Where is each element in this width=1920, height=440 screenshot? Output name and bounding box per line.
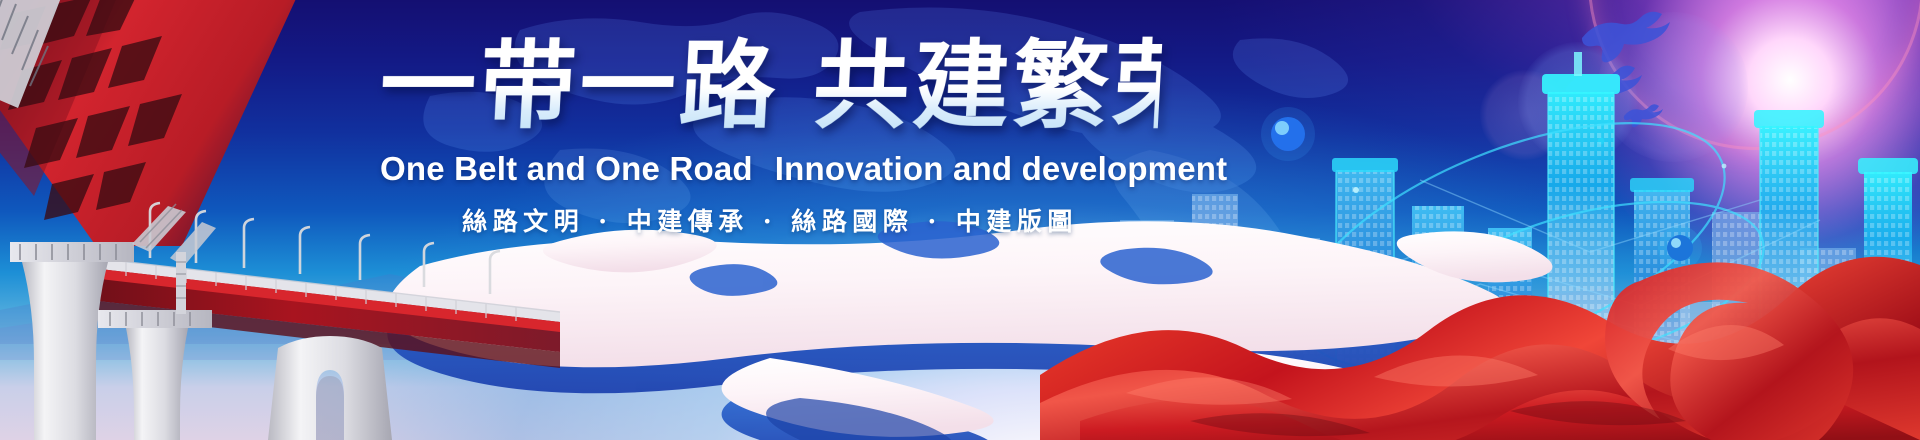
- distant-mountain-ridge-far: [0, 224, 1920, 344]
- lens-flare-bokeh-small-icon: [1480, 70, 1570, 160]
- page-title: 一带一路共建繁荣: [377, 34, 1162, 138]
- title-cn-part-2: 共建繁荣: [810, 29, 1215, 142]
- 3d-world-map: [300, 210, 1640, 440]
- slogan-chinese: 絲路文明 · 中建傳承 · 絲路國際 · 中建版圖: [380, 202, 1160, 238]
- title-cn-part-1: 一带一路: [377, 29, 782, 142]
- flying-doves-icon: [1560, 4, 1810, 154]
- banner-alt-text: 一带一路 共建繁荣 宣传横幅: [0, 0, 1, 1]
- glowing-city-skyline: [1100, 52, 1920, 382]
- belt-and-road-banner: 一带一路共建繁荣 One Belt and One RoadInnovation…: [0, 0, 1920, 440]
- distant-mountain-ridge-near: [0, 250, 1920, 360]
- subtitle-english: One Belt and One RoadInnovation and deve…: [380, 150, 1160, 188]
- banner-text-block: 一带一路共建繁荣 One Belt and One RoadInnovation…: [380, 34, 1160, 238]
- lens-flare-bokeh-pink-icon: [1598, 12, 1748, 162]
- subtitle-en-part-1: One Belt and One Road: [380, 150, 753, 187]
- lens-flare-ring-icon: [1588, 0, 1920, 150]
- red-silk-ribbon: [1040, 225, 1920, 440]
- orbital-network-rings-icon: [1120, 70, 1860, 380]
- lens-flare-bokeh-icon: [1518, 42, 1638, 162]
- subtitle-en-part-2: Innovation and development: [775, 150, 1228, 187]
- lens-flare-icon: [1580, 0, 1920, 290]
